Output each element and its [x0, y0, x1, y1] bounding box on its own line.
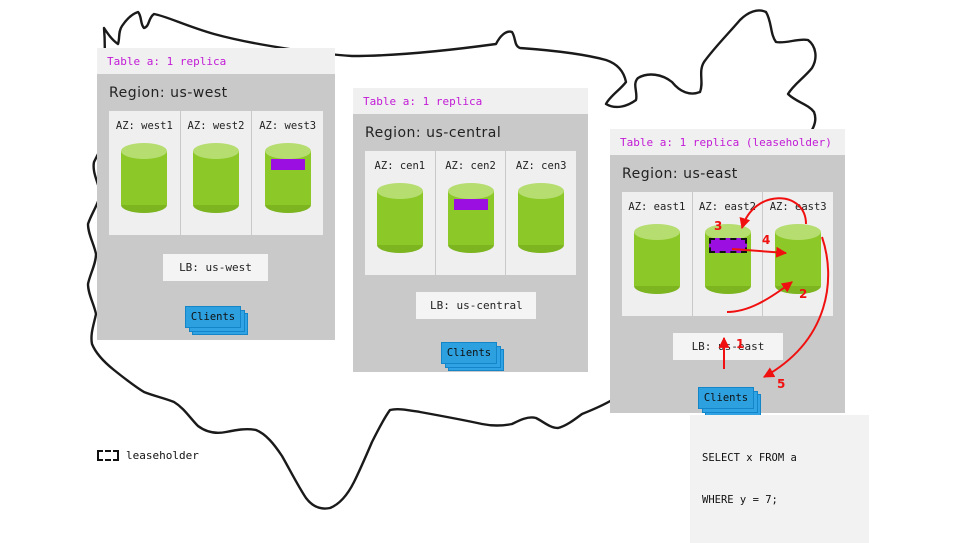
- region-title: Region: us-central: [353, 114, 588, 151]
- cylinder-top: [121, 143, 167, 159]
- az-label: AZ: west2: [181, 111, 252, 132]
- clients-label: Clients: [185, 306, 241, 328]
- az-strip-us-west: AZ: west1 AZ: west2 AZ: [109, 111, 323, 235]
- leaseholder-swatch-icon: [97, 450, 119, 461]
- step-number-1: 1: [736, 337, 744, 351]
- node-cylinder-east1[interactable]: [634, 224, 680, 294]
- legend: leaseholder: [97, 449, 199, 462]
- table-replica-label: Table a: 1 replica: [363, 95, 578, 108]
- az-label: AZ: cen1: [365, 151, 435, 172]
- sql-line-1: SELECT x FROM a: [702, 451, 857, 465]
- region-panel-us-central: Table a: 1 replica Region: us-central AZ…: [353, 88, 588, 372]
- node-cylinder-west3[interactable]: [265, 143, 311, 213]
- cylinder-top: [518, 183, 564, 199]
- az-label: AZ: cen3: [506, 151, 576, 172]
- load-balancer-us-west[interactable]: LB: us-west: [163, 254, 268, 281]
- az-label: AZ: east2: [693, 192, 763, 213]
- load-balancer-us-east[interactable]: LB: us-east: [673, 333, 783, 360]
- clients-label: Clients: [698, 387, 754, 409]
- cylinder-top: [448, 183, 494, 199]
- cylinder-body: [121, 151, 167, 205]
- node-cylinder-west2[interactable]: [193, 143, 239, 213]
- lb-label: LB: us-west: [179, 261, 252, 274]
- cylinder-top: [634, 224, 680, 240]
- region-panel-us-east: Table a: 1 replica (leaseholder) Region:…: [610, 129, 845, 413]
- panel-body-us-east: Region: us-east AZ: east1 AZ: east2: [610, 155, 845, 413]
- panel-header-us-west: Table a: 1 replica: [97, 48, 335, 74]
- node-cylinder-west1[interactable]: [121, 143, 167, 213]
- panel-body-us-central: Region: us-central AZ: cen1 AZ: cen2: [353, 114, 588, 372]
- clients-us-central[interactable]: Clients: [441, 342, 497, 364]
- cylinder-body: [634, 232, 680, 286]
- table-replica-label: Table a: 1 replica (leaseholder): [620, 136, 835, 149]
- az-card-west1[interactable]: AZ: west1: [109, 111, 180, 235]
- table-replica-label: Table a: 1 replica: [107, 55, 325, 68]
- node-cylinder-east2[interactable]: [705, 224, 751, 294]
- az-label: AZ: west1: [109, 111, 180, 132]
- sql-query-block: SELECT x FROM a WHERE y = 7;: [690, 415, 869, 543]
- cylinder-top: [193, 143, 239, 159]
- az-label: AZ: cen2: [436, 151, 506, 172]
- az-card-cen1[interactable]: AZ: cen1: [365, 151, 435, 275]
- replica-marker: [454, 199, 488, 210]
- panel-body-us-west: Region: us-west AZ: west1 AZ: west2: [97, 74, 335, 340]
- az-card-west2[interactable]: AZ: west2: [180, 111, 252, 235]
- az-card-west3[interactable]: AZ: west3: [251, 111, 323, 235]
- legend-label: leaseholder: [126, 449, 199, 462]
- lb-label: LB: us-east: [692, 340, 765, 353]
- cylinder-top: [377, 183, 423, 199]
- lb-label: LB: us-central: [430, 299, 523, 312]
- diagram-canvas: Table a: 1 replica Region: us-west AZ: w…: [0, 0, 960, 540]
- region-title: Region: us-east: [610, 155, 845, 192]
- az-card-cen2[interactable]: AZ: cen2: [435, 151, 506, 275]
- node-cylinder-cen3[interactable]: [518, 183, 564, 253]
- az-label: AZ: east3: [763, 192, 833, 213]
- cylinder-body: [377, 191, 423, 245]
- region-title: Region: us-west: [97, 74, 335, 111]
- node-cylinder-east3[interactable]: [775, 224, 821, 294]
- step-number-3: 3: [714, 219, 722, 233]
- az-card-east2[interactable]: AZ: east2: [692, 192, 763, 316]
- region-panel-us-west: Table a: 1 replica Region: us-west AZ: w…: [97, 48, 335, 340]
- load-balancer-us-central[interactable]: LB: us-central: [416, 292, 536, 319]
- az-card-east3[interactable]: AZ: east3: [762, 192, 833, 316]
- clients-us-east[interactable]: Clients: [698, 387, 754, 409]
- step-number-5: 5: [777, 377, 785, 391]
- node-cylinder-cen2[interactable]: [448, 183, 494, 253]
- az-card-east1[interactable]: AZ: east1: [622, 192, 692, 316]
- step-number-2: 2: [799, 287, 807, 301]
- cylinder-body: [193, 151, 239, 205]
- cylinder-top: [265, 143, 311, 159]
- panel-header-us-east: Table a: 1 replica (leaseholder): [610, 129, 845, 155]
- az-label: AZ: west3: [252, 111, 323, 132]
- cylinder-body: [775, 232, 821, 286]
- cylinder-body: [518, 191, 564, 245]
- clients-label: Clients: [441, 342, 497, 364]
- node-cylinder-cen1[interactable]: [377, 183, 423, 253]
- clients-us-west[interactable]: Clients: [185, 306, 241, 328]
- leaseholder-replica-marker: [709, 238, 747, 253]
- replica-marker: [271, 159, 305, 170]
- cylinder-top: [775, 224, 821, 240]
- sql-line-2: WHERE y = 7;: [702, 493, 857, 507]
- az-card-cen3[interactable]: AZ: cen3: [505, 151, 576, 275]
- panel-header-us-central: Table a: 1 replica: [353, 88, 588, 114]
- az-label: AZ: east1: [622, 192, 692, 213]
- az-strip-us-central: AZ: cen1 AZ: cen2: [365, 151, 576, 275]
- step-number-4: 4: [762, 233, 770, 247]
